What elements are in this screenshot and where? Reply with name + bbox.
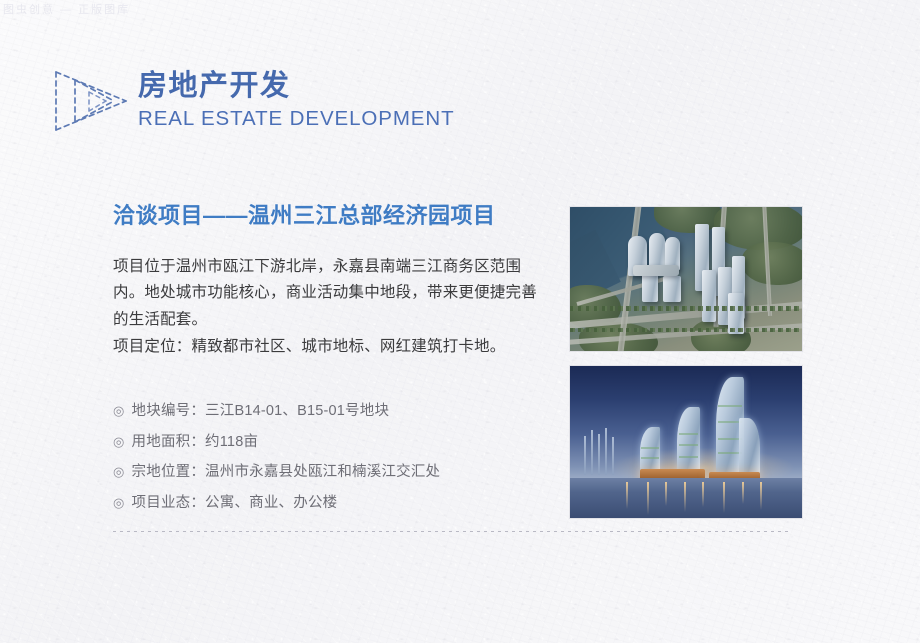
header-text-block: 房地产开发 REAL ESTATE DEVELOPMENT — [138, 70, 455, 133]
spec-label: 宗地位置： — [132, 461, 206, 483]
list-item: ◎ 地块编号： 三江B14-01、B15-01号地块 — [113, 400, 543, 422]
double-circle-bullet-icon: ◎ — [113, 493, 125, 513]
body-paragraph-1: 项目位于温州市瓯江下游北岸，永嘉县南端三江商务区范围内。地处城市功能核心，商业活… — [113, 254, 543, 334]
double-circle-bullet-icon: ◎ — [113, 432, 125, 452]
night-waterfront-rendering-canvas — [570, 366, 802, 518]
watermark-text: 图虫创意 — 正版图库 — [3, 1, 130, 17]
list-item: ◎ 用地面积： 约118亩 — [113, 431, 543, 453]
spec-list: ◎ 地块编号： 三江B14-01、B15-01号地块 ◎ 用地面积： 约118亩… — [113, 400, 543, 514]
night-waterfront-rendering — [569, 365, 803, 519]
double-circle-bullet-icon: ◎ — [113, 401, 125, 421]
spec-label: 项目业态： — [132, 492, 206, 514]
footer-dashed-divider — [113, 531, 790, 532]
page-title-en: REAL ESTATE DEVELOPMENT — [138, 108, 455, 131]
spec-value: 公寓、商业、办公楼 — [205, 492, 337, 514]
body-paragraph-2: 项目定位：精致都市社区、城市地标、网红建筑打卡地。 — [113, 334, 543, 361]
slide-page: 图虫创意 — 正版图库 — [0, 0, 920, 643]
spec-label: 用地面积： — [132, 431, 206, 453]
dashed-triangle-play-icon — [48, 66, 130, 136]
section-title: 洽谈项目——温州三江总部经济园项目 — [113, 202, 543, 231]
list-item: ◎ 宗地位置： 温州市永嘉县处瓯江和楠溪江交汇处 — [113, 461, 543, 483]
content-column: 洽谈项目——温州三江总部经济园项目 项目位于温州市瓯江下游北岸，永嘉县南端三江商… — [113, 202, 543, 522]
aerial-daytime-rendering-canvas — [570, 207, 802, 351]
aerial-daytime-rendering — [569, 206, 803, 352]
page-header: 房地产开发 REAL ESTATE DEVELOPMENT — [48, 66, 455, 136]
double-circle-bullet-icon: ◎ — [113, 462, 125, 482]
spec-value: 温州市永嘉县处瓯江和楠溪江交汇处 — [205, 461, 440, 483]
page-title-cn: 房地产开发 — [138, 70, 455, 103]
spec-label: 地块编号： — [132, 400, 206, 422]
spec-value: 约118亩 — [205, 431, 258, 453]
body-copy: 项目位于温州市瓯江下游北岸，永嘉县南端三江商务区范围内。地处城市功能核心，商业活… — [113, 254, 543, 361]
list-item: ◎ 项目业态： 公寓、商业、办公楼 — [113, 492, 543, 514]
spec-value: 三江B14-01、B15-01号地块 — [205, 400, 389, 422]
